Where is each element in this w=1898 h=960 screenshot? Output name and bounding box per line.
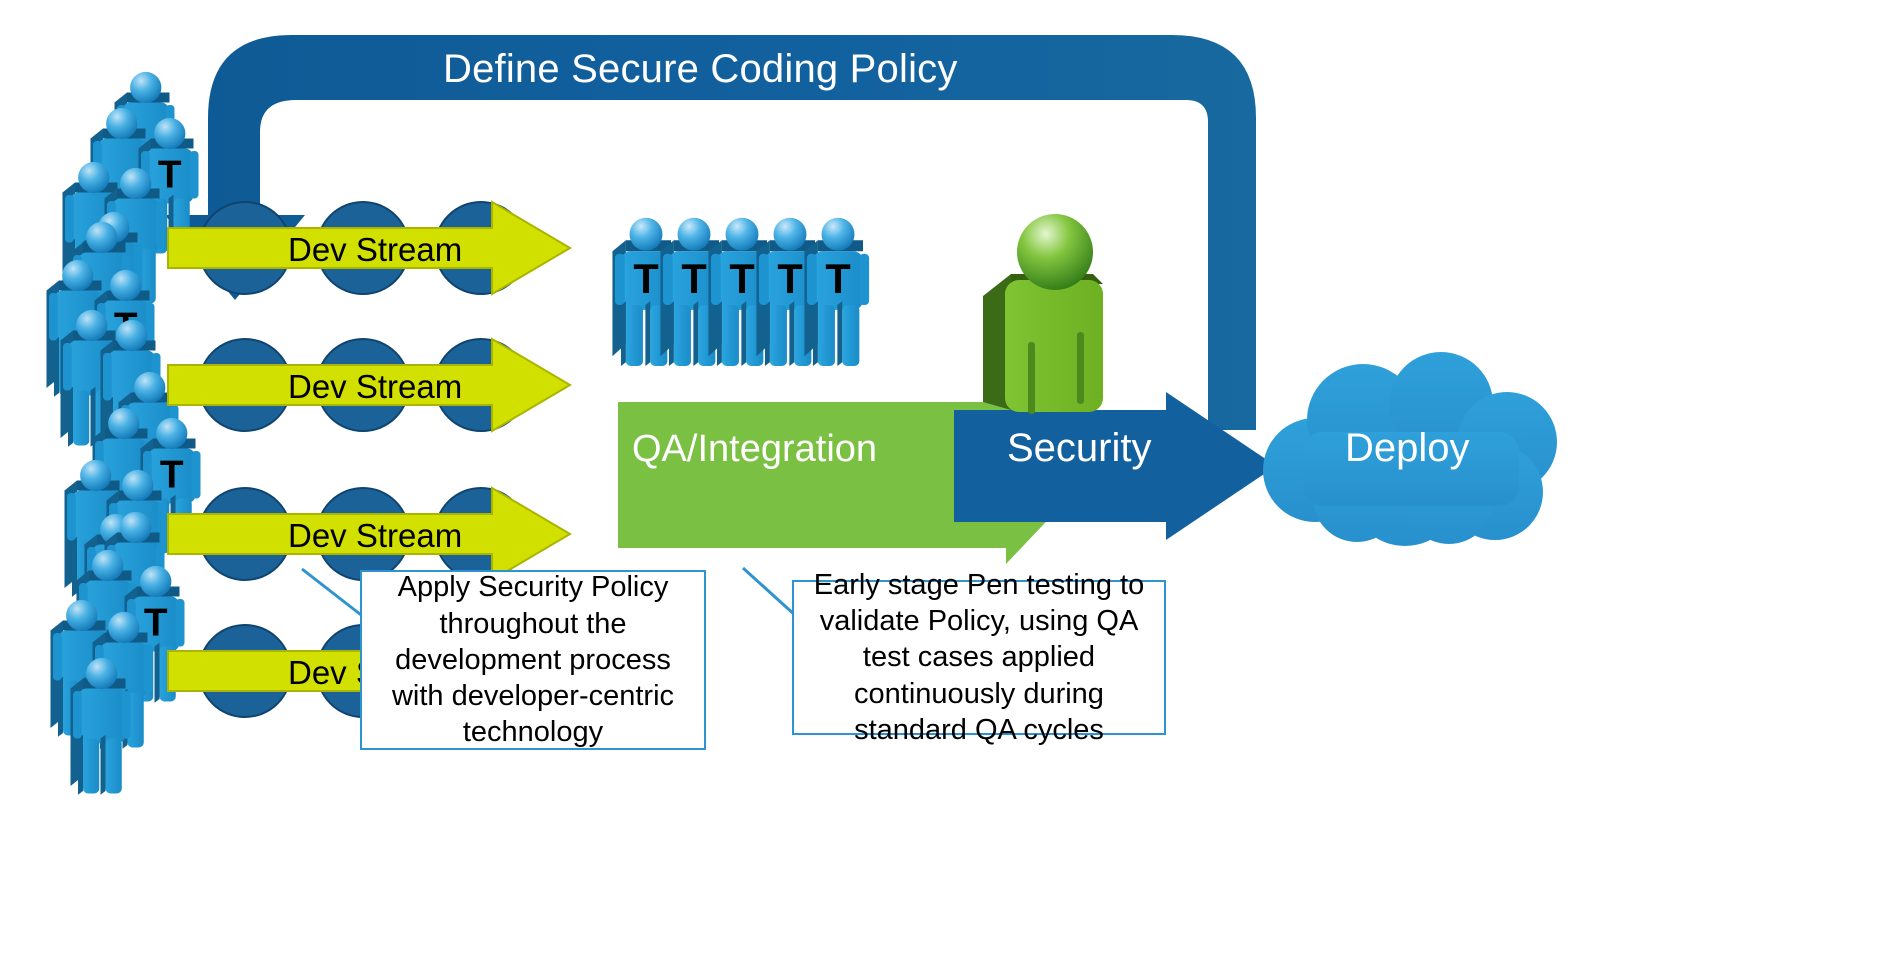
callout-early-stage-pen-testing: Early stage Pen testing to validate Poli… bbox=[792, 580, 1166, 735]
callout-apply-security-policy: Apply Security Policy throughout the dev… bbox=[360, 570, 706, 750]
callout-leader-lines bbox=[0, 0, 1898, 960]
callout-text: Apply Security Policy throughout the dev… bbox=[362, 563, 704, 756]
callout-text: Early stage Pen testing to validate Poli… bbox=[794, 561, 1164, 754]
diagram-canvas: Define Secure Coding Policy bbox=[0, 0, 1898, 960]
